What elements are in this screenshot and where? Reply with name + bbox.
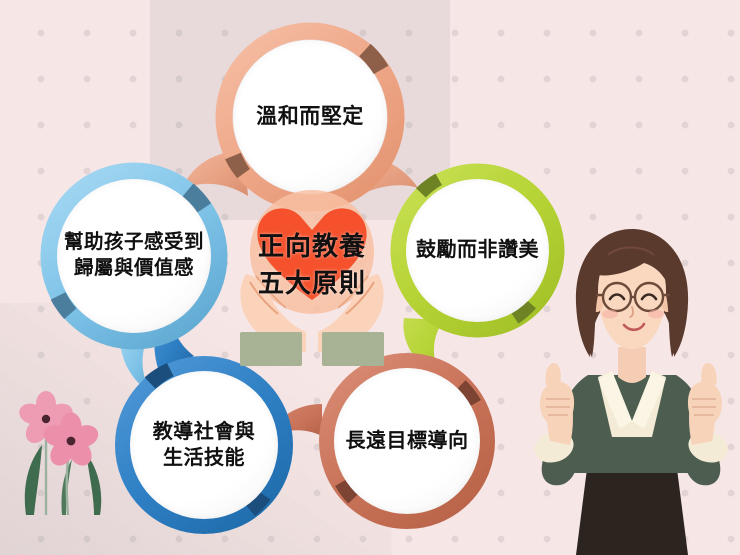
infographic-canvas: 正向教養 五大原則 溫和而堅定 xyxy=(0,0,740,555)
ring-inner-left xyxy=(57,179,211,333)
center-title: 正向教養 五大原則 xyxy=(222,228,402,302)
principle-node-bottom-left[interactable]: 教導社會與 生活技能 xyxy=(114,355,294,535)
ring-inner-bottom-right xyxy=(334,368,480,514)
principle-node-bottom-right[interactable]: 長遠目標導向 xyxy=(318,352,496,530)
woman-thumbs-up-illustration xyxy=(516,215,740,555)
principle-node-left[interactable]: 幫助孩子感受到 歸屬與價值感 xyxy=(40,162,228,350)
pink-flowers-illustration xyxy=(8,375,118,515)
ring-inner-top xyxy=(233,40,387,194)
ring-inner-bottom-left xyxy=(130,371,278,519)
